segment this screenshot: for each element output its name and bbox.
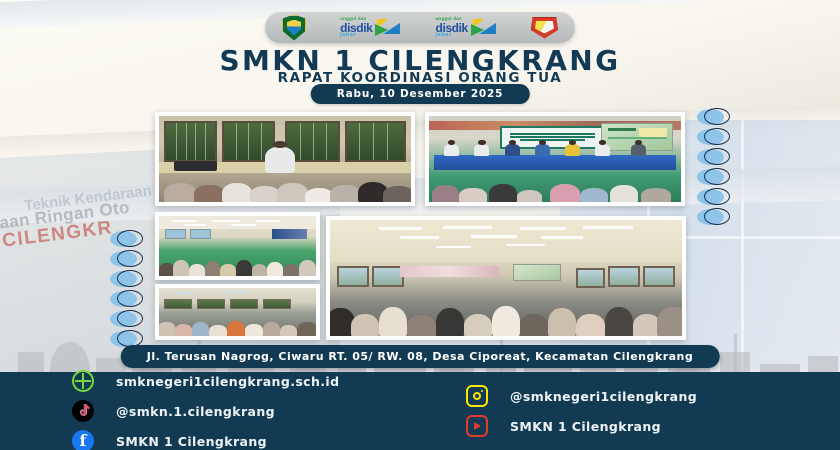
decor-dots-right <box>697 108 731 228</box>
decor-dot <box>110 230 144 249</box>
footer-website-label: smknegeri1cilengkrang.sch.id <box>116 374 339 389</box>
decor-dot <box>697 108 731 127</box>
footer-item-tiktok[interactable]: @smkn.1.cilengkrang <box>72 400 462 422</box>
facebook-icon: f <box>72 430 94 450</box>
decor-dot <box>697 168 731 187</box>
youtube-icon <box>466 415 488 437</box>
disdik-jabar-logo-2-icon: unggul dan disdik jabar <box>436 17 497 38</box>
photo-hall-panel <box>425 112 685 206</box>
decor-dot <box>697 148 731 167</box>
logo-bar: unggul dan disdik jabar unggul dan disdi… <box>265 12 575 43</box>
photo-classroom-presentation <box>155 112 415 206</box>
poster-canvas: Teknik Kendaraan raan Ringan Oto CILENGK… <box>0 0 840 450</box>
footer-left-column: smknegeri1cilengkrang.sch.id @smkn.1.cil… <box>72 370 462 450</box>
address-badge: Jl. Terusan Nagrog, Ciwaru RT. 05/ RW. 0… <box>121 345 720 368</box>
disdik-sub-2: jabar <box>436 33 468 39</box>
decor-dot <box>110 290 144 309</box>
photo-main-hall-wide <box>326 216 686 340</box>
footer-item-instagram[interactable]: @smknegeri1cilengkrang <box>466 385 697 407</box>
jabar-provincial-emblem-icon <box>282 15 306 41</box>
disdik-jabar-logo-icon: unggul dan disdik jabar <box>340 17 401 38</box>
footer-tiktok-label: @smkn.1.cilengkrang <box>116 404 275 419</box>
decor-dots-left <box>110 230 144 350</box>
footer-item-website[interactable]: smknegeri1cilengkrang.sch.id <box>72 370 462 392</box>
decor-dot <box>110 270 144 289</box>
event-date-badge: Rabu, 10 Desember 2025 <box>311 84 530 104</box>
decor-dot <box>697 128 731 147</box>
footer-item-facebook[interactable]: f SMKN 1 Cilengkrang <box>72 430 462 450</box>
footer-item-youtube[interactable]: SMKN 1 Cilengkrang <box>466 415 697 437</box>
decor-dot <box>110 310 144 329</box>
footer-youtube-label: SMKN 1 Cilengkrang <box>510 419 661 434</box>
globe-icon <box>72 370 94 392</box>
footer-bar: smknegeri1cilengkrang.sch.id @smkn.1.cil… <box>0 372 840 450</box>
photo-hall-crowd-green <box>155 212 320 280</box>
kabupaten-bandung-emblem-icon <box>531 17 558 39</box>
footer-facebook-label: SMKN 1 Cilengkrang <box>116 434 267 449</box>
instagram-icon <box>466 385 488 407</box>
decor-dot <box>697 188 731 207</box>
disdik-sub-1: jabar <box>340 33 372 39</box>
decor-dot <box>697 208 731 227</box>
footer-instagram-label: @smknegeri1cilengkrang <box>510 389 697 404</box>
photo-parents-seated <box>155 284 320 340</box>
footer-right-column: @smknegeri1cilengkrang SMKN 1 Cilengkran… <box>466 385 697 437</box>
decor-dot <box>110 250 144 269</box>
tiktok-icon <box>72 400 94 422</box>
